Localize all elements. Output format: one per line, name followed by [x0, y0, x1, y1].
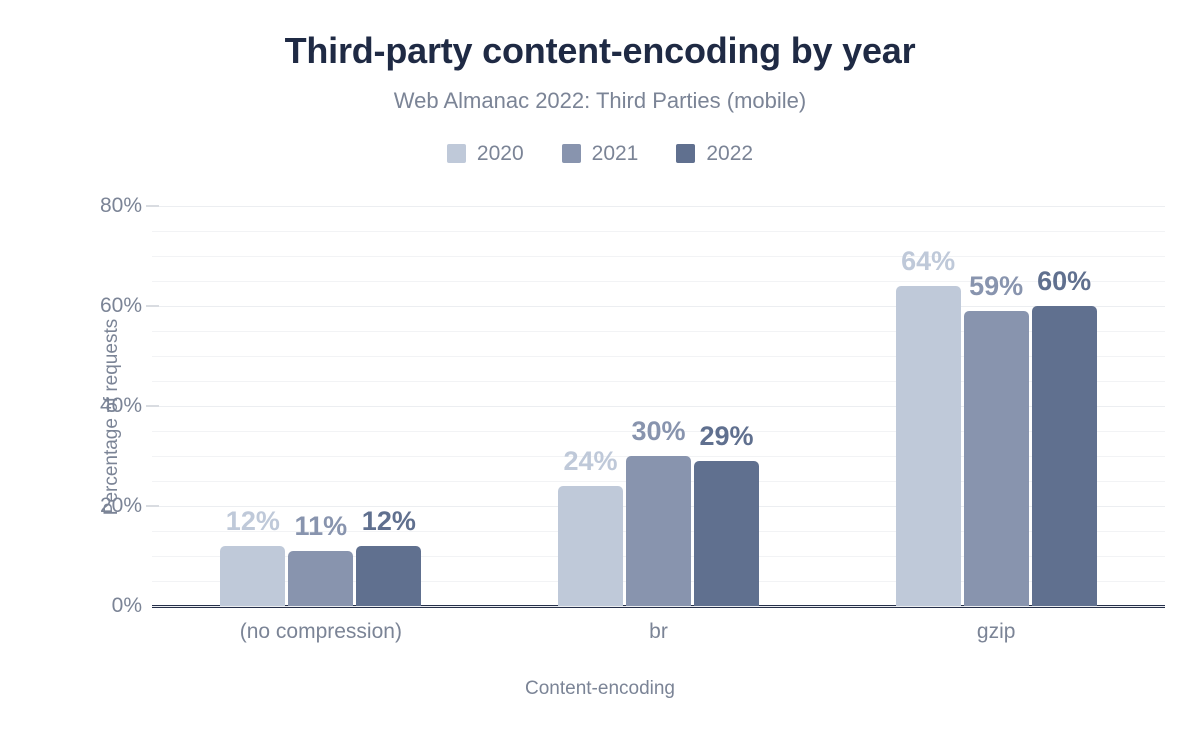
legend-label-2020: 2020: [477, 143, 524, 164]
y-tick-label-0%: 0%: [52, 594, 142, 618]
chart-container: Third-party content-encoding by year Web…: [0, 0, 1200, 742]
y-tick-label-40%: 40%: [52, 394, 142, 418]
x-tick-label: (no compression): [240, 620, 402, 644]
bar-2021-gzip[interactable]: [964, 311, 1029, 606]
y-tick-label-80%: 80%: [52, 194, 142, 218]
y-tick-mark: [146, 305, 159, 307]
chart-legend: 202020212022: [0, 143, 1200, 164]
y-tick-mark: [146, 205, 159, 207]
bar-2020-gzip[interactable]: [896, 286, 961, 606]
bar-value-label: 12%: [362, 508, 416, 535]
legend-item-2022[interactable]: 2022: [676, 143, 753, 164]
bar-value-label: 30%: [631, 418, 685, 445]
y-tick-label-20%: 20%: [52, 494, 142, 518]
bar-2021-(no compression)[interactable]: [288, 551, 353, 606]
chart-subtitle: Web Almanac 2022: Third Parties (mobile): [0, 88, 1200, 114]
legend-label-2021: 2021: [592, 143, 639, 164]
gridline: [152, 206, 1165, 207]
y-tick-mark: [146, 605, 159, 607]
bar-2020-(no compression)[interactable]: [220, 546, 285, 606]
bar-2020-br[interactable]: [558, 486, 623, 606]
y-tick-mark: [146, 505, 159, 507]
bar-2021-br[interactable]: [626, 456, 691, 606]
bar-value-label: 59%: [969, 273, 1023, 300]
legend-swatch-2022: [676, 144, 695, 163]
gridline: [152, 256, 1165, 257]
legend-swatch-2021: [562, 144, 581, 163]
x-axis-title: Content-encoding: [0, 678, 1200, 700]
legend-label-2022: 2022: [706, 143, 753, 164]
gridline: [152, 231, 1165, 232]
bar-2022-gzip[interactable]: [1032, 306, 1097, 606]
y-tick-mark: [146, 405, 159, 407]
x-tick-label: gzip: [977, 620, 1016, 644]
bar-2022-(no compression)[interactable]: [356, 546, 421, 606]
legend-item-2020[interactable]: 2020: [447, 143, 524, 164]
chart-title: Third-party content-encoding by year: [0, 30, 1200, 72]
bar-value-label: 24%: [563, 448, 617, 475]
bar-value-label: 11%: [295, 513, 348, 540]
bar-value-label: 60%: [1037, 268, 1091, 295]
bar-2022-br[interactable]: [694, 461, 759, 606]
bar-value-label: 29%: [699, 423, 753, 450]
y-tick-label-60%: 60%: [52, 294, 142, 318]
bar-value-label: 12%: [226, 508, 280, 535]
legend-swatch-2020: [447, 144, 466, 163]
x-tick-label: br: [649, 620, 668, 644]
legend-item-2021[interactable]: 2021: [562, 143, 639, 164]
gridline: [152, 306, 1165, 307]
plot-area: 12%11%12%24%30%29%64%59%60%: [152, 206, 1165, 606]
y-axis-title: Percentage of requests: [101, 287, 123, 547]
bar-value-label: 64%: [901, 248, 955, 275]
